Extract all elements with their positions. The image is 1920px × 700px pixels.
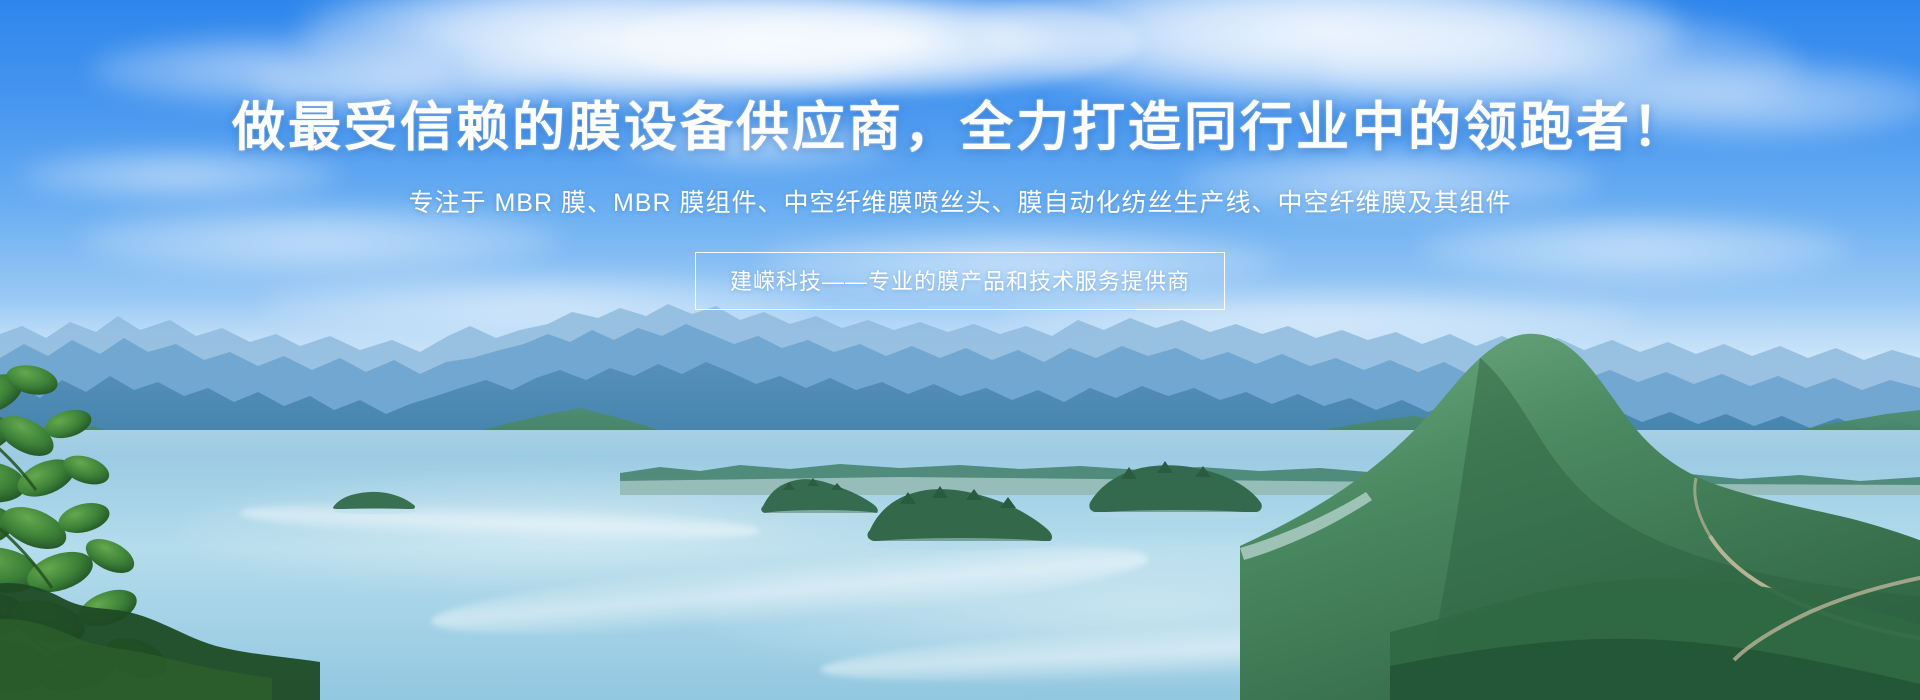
foreground-foliage-bottom bbox=[0, 560, 320, 700]
island-tiny-left bbox=[330, 486, 420, 516]
banner-tagline-box[interactable]: 建嵘科技——专业的膜产品和技术服务提供商 bbox=[695, 252, 1225, 310]
island-right bbox=[1085, 455, 1265, 525]
island-main bbox=[860, 478, 1060, 550]
hero-banner: 做最受信赖的膜设备供应商，全力打造同行业中的领跑者！ 专注于 MBR 膜、MBR… bbox=[0, 0, 1920, 700]
foreground-foliage-right bbox=[1390, 540, 1920, 700]
